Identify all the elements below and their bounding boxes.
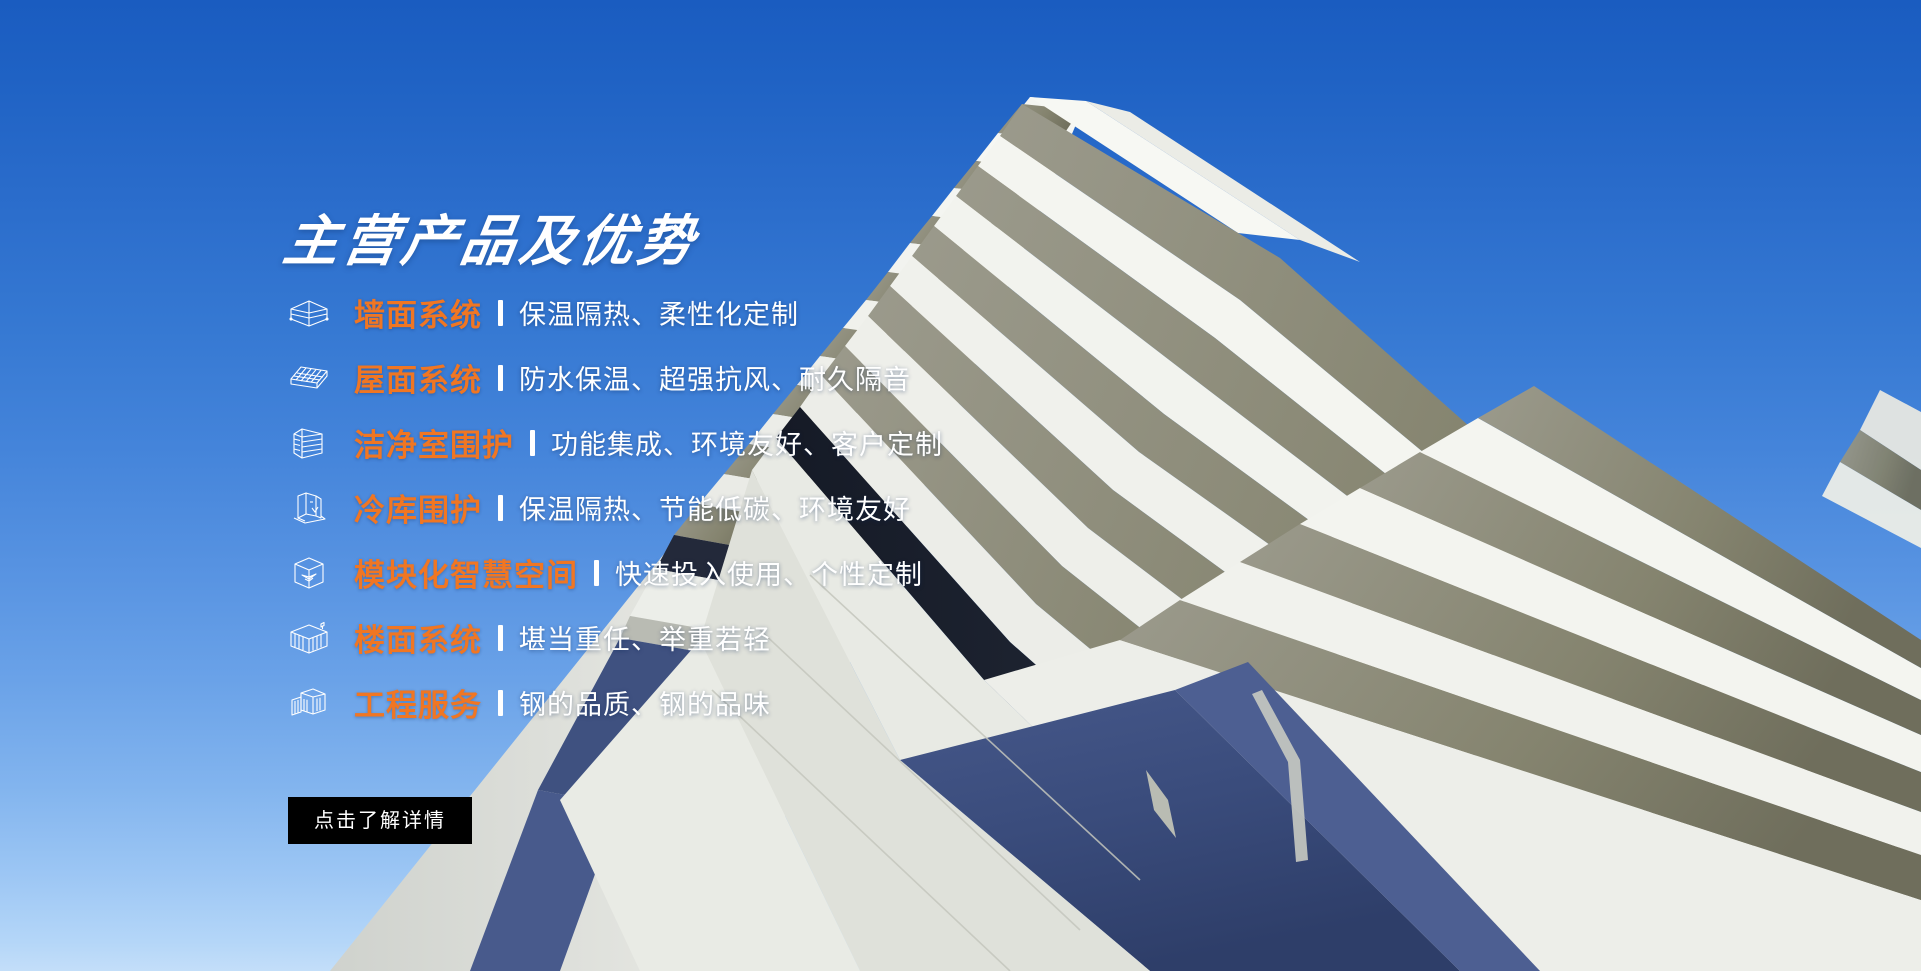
learn-more-button[interactable]: 点击了解详情 — [288, 797, 472, 844]
cold-storage-enclosure-icon — [286, 488, 332, 528]
product-row-cold-storage-enclosure[interactable]: 冷库围护 保温隔热、节能低碳、环境友好 — [286, 489, 943, 526]
product-name: 冷库围护 — [354, 485, 482, 530]
product-desc: 钢的品质、钢的品味 — [519, 683, 771, 722]
product-name: 墙面系统 — [354, 290, 482, 335]
product-row-engineering-service[interactable]: 工程服务 钢的品质、钢的品味 — [286, 684, 943, 721]
cleanroom-enclosure-icon — [286, 423, 332, 463]
hero-content: 主营产品及优势 墙面系统 保温隔热、柔性化定制 — [0, 0, 1000, 971]
product-desc: 保温隔热、柔性化定制 — [519, 293, 799, 332]
product-name: 模块化智慧空间 — [354, 550, 578, 595]
separator-bar — [530, 430, 535, 456]
product-row-floor-system[interactable]: 楼面系统 堪当重任、举重若轻 — [286, 619, 943, 656]
separator-bar — [498, 365, 503, 391]
separator-bar — [594, 560, 599, 586]
product-desc: 功能集成、环境友好、客户定制 — [551, 423, 943, 462]
separator-bar — [498, 300, 503, 326]
product-row-cleanroom-enclosure[interactable]: 洁净室围护 功能集成、环境友好、客户定制 — [286, 424, 943, 461]
separator-bar — [498, 690, 503, 716]
product-row-modular-smart-space[interactable]: 模块化智慧空间 快速投入使用、个性定制 — [286, 554, 943, 591]
product-name: 工程服务 — [354, 680, 482, 725]
separator-bar — [498, 625, 503, 651]
product-desc: 堪当重任、举重若轻 — [519, 618, 771, 657]
product-name: 洁净室围护 — [354, 420, 514, 465]
product-desc: 快速投入使用、个性定制 — [615, 553, 923, 592]
roof-system-icon — [286, 358, 332, 398]
separator-bar — [498, 495, 503, 521]
product-desc: 防水保温、超强抗风、耐久隔音 — [519, 358, 911, 397]
floor-system-icon — [286, 618, 332, 658]
hero-banner: 主营产品及优势 墙面系统 保温隔热、柔性化定制 — [0, 0, 1921, 971]
product-row-wall-system[interactable]: 墙面系统 保温隔热、柔性化定制 — [286, 294, 943, 331]
product-name: 屋面系统 — [354, 355, 482, 400]
modular-smart-space-icon — [286, 553, 332, 593]
page-title: 主营产品及优势 — [279, 196, 705, 276]
product-row-roof-system[interactable]: 屋面系统 防水保温、超强抗风、耐久隔音 — [286, 359, 943, 396]
product-desc: 保温隔热、节能低碳、环境友好 — [519, 488, 911, 527]
wall-system-icon — [286, 293, 332, 333]
product-name: 楼面系统 — [354, 615, 482, 660]
engineering-service-icon — [286, 683, 332, 723]
product-list: 墙面系统 保温隔热、柔性化定制 屋面系统 防水保温、超强抗风、 — [286, 294, 943, 749]
